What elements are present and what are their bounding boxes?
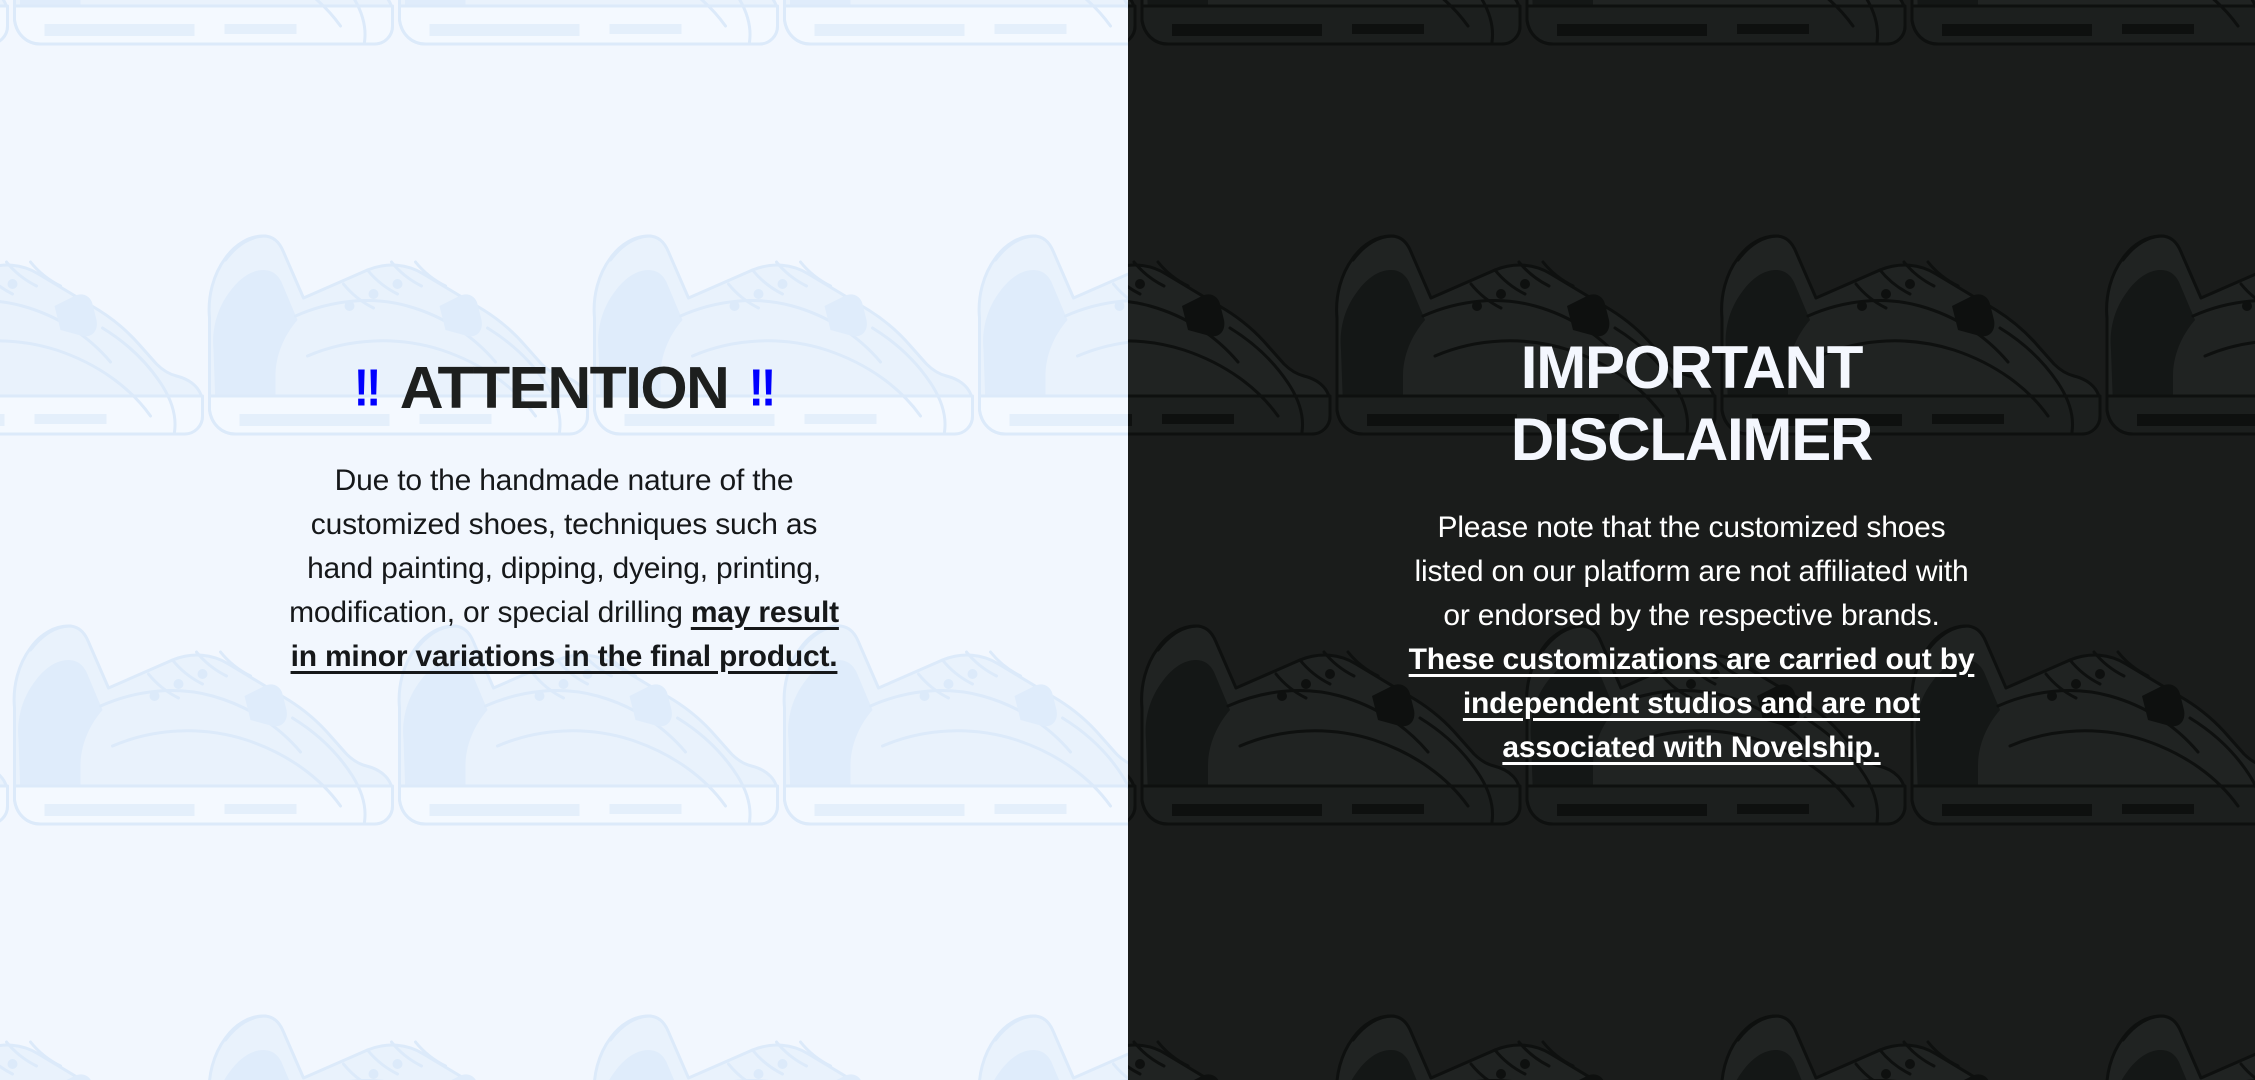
- disclaimer-headline-line1: IMPORTANT: [1521, 334, 1862, 401]
- attention-body: Due to the handmade nature of the custom…: [274, 425, 854, 679]
- disclaimer-headline: IMPORTANTDISCLAIMER: [1412, 332, 1972, 476]
- double-exclamation-icon-right: ‼: [749, 347, 774, 432]
- attention-headline-text: ATTENTION: [400, 355, 728, 421]
- attention-content: ‼ATTENTION‼ Due to the handmade nature o…: [0, 0, 1128, 679]
- disclaimer-headline-line2: DISCLAIMER: [1511, 406, 1872, 473]
- attention-headline: ‼ATTENTION‼: [0, 352, 1128, 425]
- disclaimer-panel: IMPORTANTDISCLAIMER Please note that the…: [1128, 0, 2255, 1080]
- disclaimer-content: IMPORTANTDISCLAIMER Please note that the…: [1128, 0, 2255, 770]
- disclaimer-body-normal: Please note that the customized shoes li…: [1415, 511, 1969, 632]
- disclaimer-body-emphasis: These customizations are carried out by …: [1409, 643, 1975, 764]
- double-exclamation-icon-left: ‼: [354, 347, 379, 432]
- attention-panel: ‼ATTENTION‼ Due to the handmade nature o…: [0, 0, 1128, 1080]
- disclaimer-body: Please note that the customized shoes li…: [1408, 476, 1976, 770]
- split-banner: ‼ATTENTION‼ Due to the handmade nature o…: [0, 0, 2255, 1080]
